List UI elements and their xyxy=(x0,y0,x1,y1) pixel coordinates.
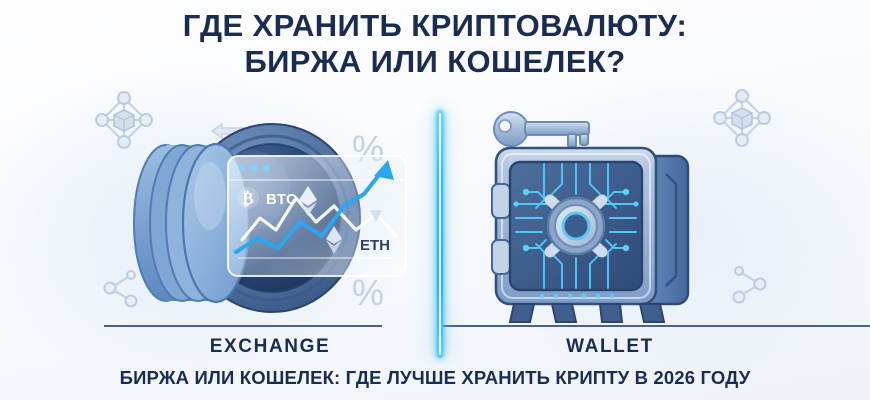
page-title-line-1: ГДЕ ХРАНИТЬ КРИПТОВАЛЮТУ: xyxy=(183,8,687,43)
exchange-screen-panel: ₿ BTC ETH xyxy=(228,156,406,276)
bottom-caption: БИРЖА ИЛИ КОШЕЛЕК: ГДЕ ЛУЧШЕ ХРАНИТЬ КРИ… xyxy=(0,367,870,389)
share-nodes-icon xyxy=(722,258,776,312)
safe-dial-icon xyxy=(548,198,604,254)
exchange-baseline xyxy=(104,325,382,327)
ticker-btc: ₿ xyxy=(237,187,259,209)
wallet-illustration xyxy=(480,108,710,323)
safe-door xyxy=(510,162,642,290)
exchange-illustration: ₿ BTC ETH xyxy=(120,118,420,318)
blockchain-node-icon xyxy=(706,82,778,154)
infographic-canvas: ГДЕ ХРАНИТЬ КРИПТОВАЛЮТУ: БИРЖА ИЛИ КОШЕ… xyxy=(0,0,870,400)
page-title-line-2: БИРЖА ИЛИ КОШЕЛЕК? xyxy=(0,44,870,80)
window-dots xyxy=(239,165,270,172)
page-title: ГДЕ ХРАНИТЬ КРИПТОВАЛЮТУ: БИРЖА ИЛИ КОШЕ… xyxy=(0,8,870,80)
ticker-eth-label: ETH xyxy=(360,237,390,254)
key-icon xyxy=(494,112,589,147)
svg-text:₿: ₿ xyxy=(242,189,253,208)
ticker-btc-label: BTC xyxy=(266,191,297,208)
wallet-label: WALLET xyxy=(490,336,730,358)
exchange-label: EXCHANGE xyxy=(150,336,390,358)
safe-legs xyxy=(510,304,664,322)
center-divider xyxy=(437,110,443,358)
wallet-baseline xyxy=(440,325,870,327)
